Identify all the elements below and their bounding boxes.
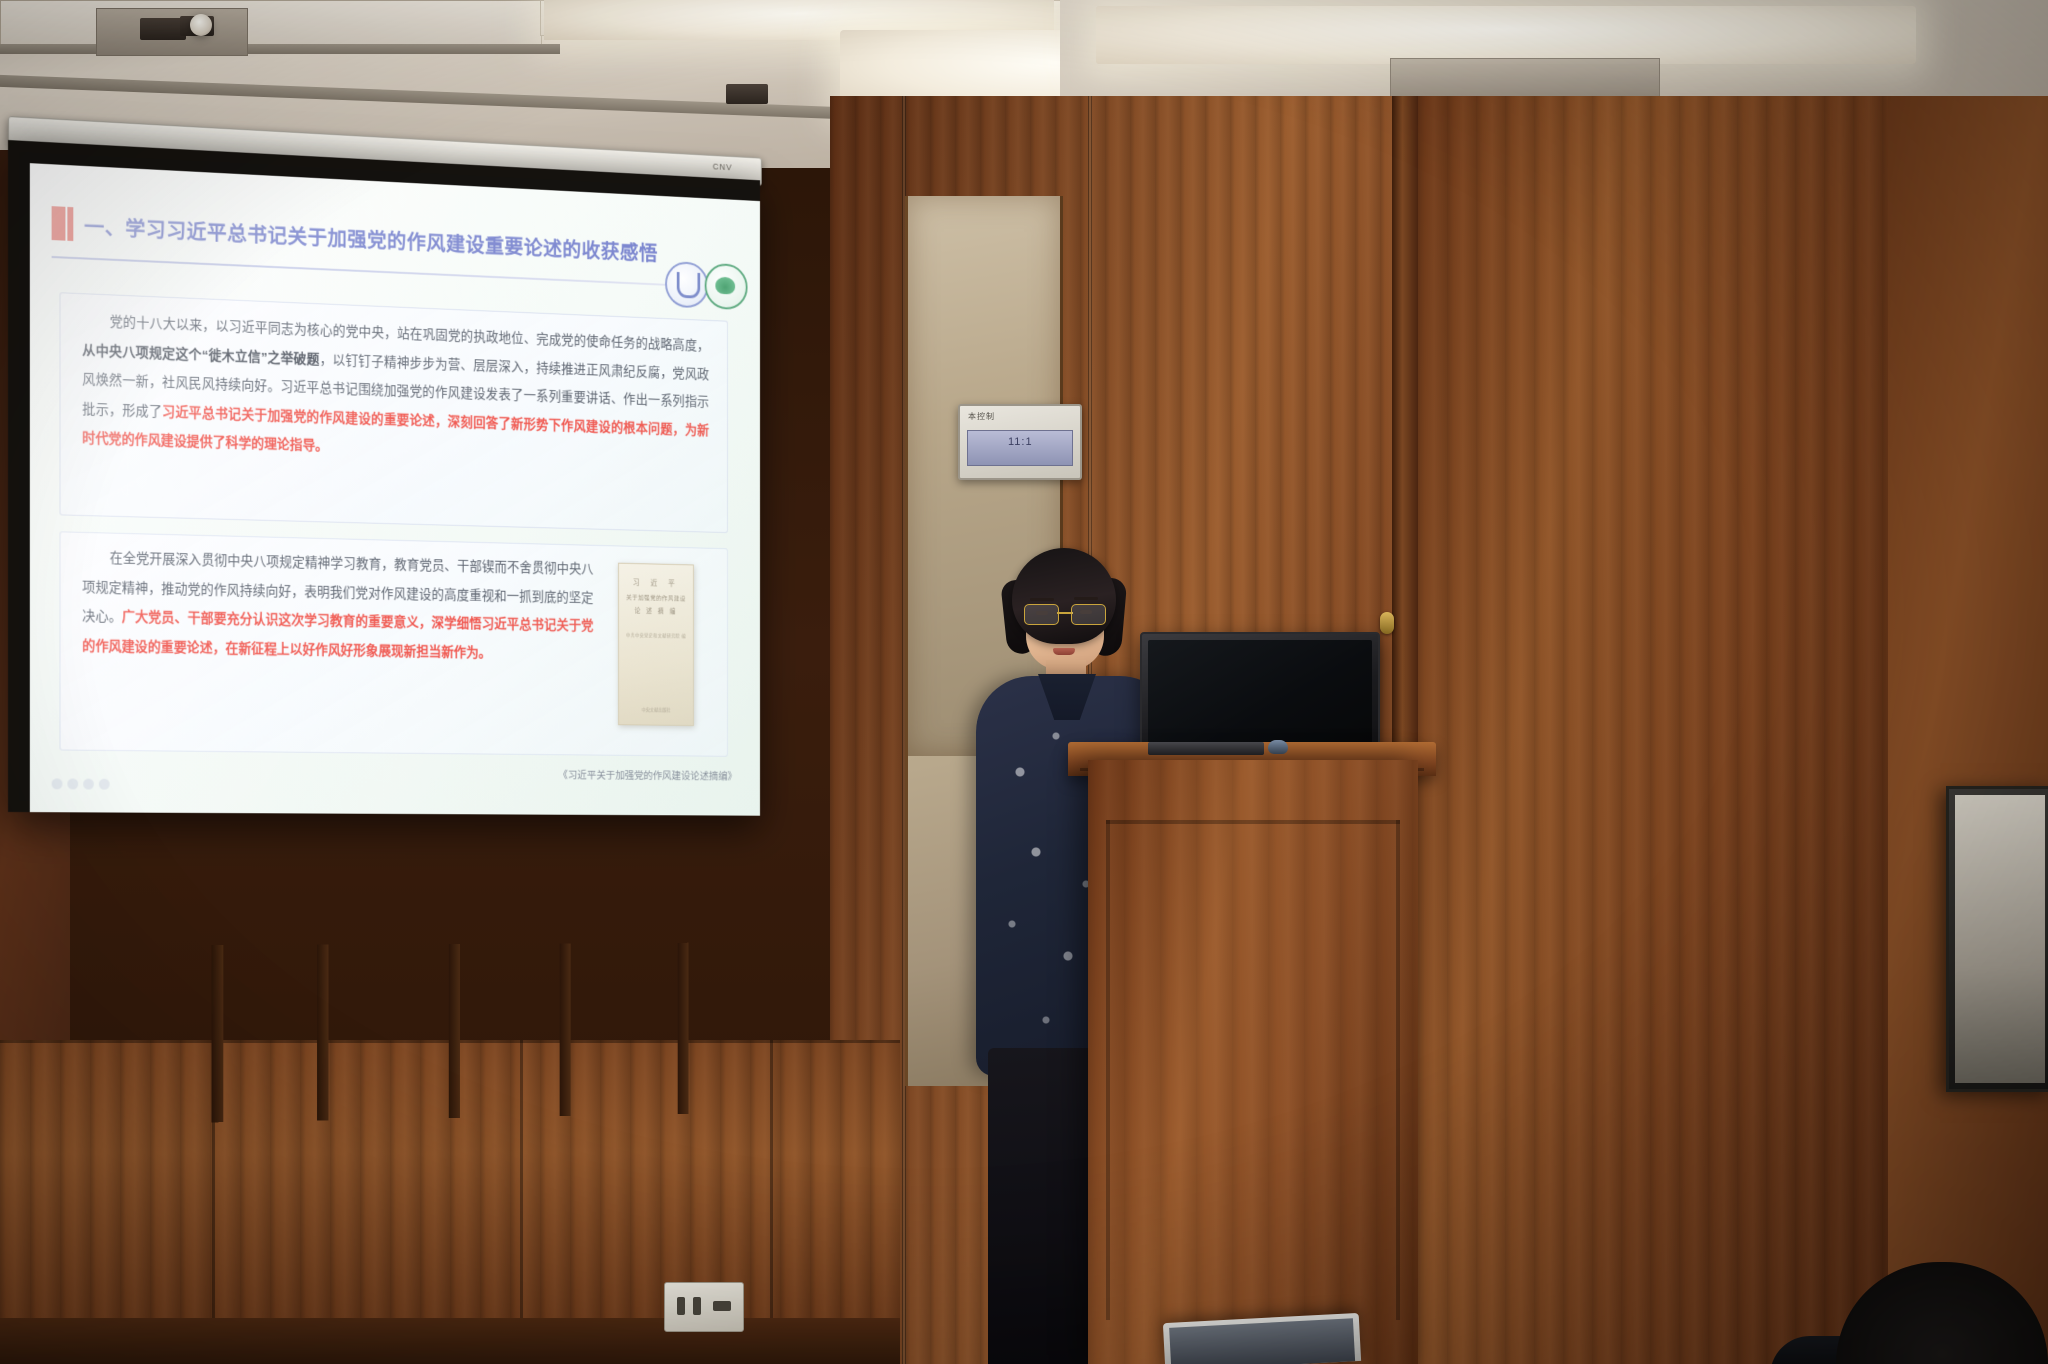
lens [1024,604,1059,625]
book-publisher-line: 中央文献出版社 [619,707,693,714]
screen-brand-label: CNV [713,162,733,173]
lectern-panel-line [1396,820,1400,1320]
monitor-screen [1148,640,1372,748]
wall-control-label: 本控制 [968,411,995,422]
wood-door[interactable] [1418,96,1888,1364]
conference-room-scene: 本控制 11:1 CNV 一、学习习近平总书记关于加强党的作风建设重要论述的收获… [0,0,2048,1364]
lectern-panel-line [1106,820,1400,824]
screen-border: 一、学习习近平总书记关于加强党的作风建设重要论述的收获感悟 党的十八大以来，以习… [8,140,760,816]
door-handle[interactable] [1380,612,1394,634]
slide-paragraph-1: 党的十八大以来，以习近平同志为核心的党中央，站在巩固党的执政地位、完成党的使命任… [82,306,709,472]
slide-title: 一、学习习近平总书记关于加强党的作风建设重要论述的收获感悟 [84,210,658,267]
screen-leg [678,943,689,1114]
slide-citation: 《习近平关于加强党的作风建设论述摘编》 [558,767,736,783]
screen-stand [26,942,767,974]
hair [1012,548,1116,644]
framed-picture [1946,786,2048,1092]
slide-title-row: 一、学习习近平总书记关于加强党的作风建设重要论述的收获感悟 [52,206,658,268]
book-title-line1: 习 近 平 [619,577,693,589]
wooden-lectern [1088,760,1418,1364]
mouth [1053,648,1075,655]
slide-paragraph-block-1: 党的十八大以来，以习近平同志为核心的党中央，站在巩固党的执政地位、完成党的使命任… [60,292,728,533]
lectern-panel-line [1106,820,1110,1320]
ceiling-downlight-slot [726,84,768,104]
footer-dot-icon [52,778,63,789]
footer-dot-icon [99,779,110,790]
university-emblem-icon [665,261,708,309]
eyebrow [1074,597,1098,600]
outlet-slot [677,1297,685,1315]
eyebrow [1030,598,1054,601]
ceiling-panel [0,0,542,46]
institute-emblem-icon [705,263,748,310]
laptop-screen [1169,1318,1355,1364]
slide-footer-marks [52,778,110,789]
ceiling-light [1096,6,1916,64]
keyboard[interactable] [1148,742,1264,755]
screen-leg [560,943,571,1116]
panel-divider [520,1040,523,1364]
panel-divider [770,1040,773,1364]
audience-laptop[interactable] [1163,1313,1361,1364]
slide-paragraph-2: 在全党开展深入贯彻中央八项规定精神学习教育，教育党员、干部锲而不舍贯彻中央八项规… [82,543,593,669]
book-editor-line: 中共中央党史和文献研究院 编 [619,632,693,639]
book-title-line3: 论 述 摘 编 [619,606,693,616]
title-accent-bar-icon [52,206,74,241]
outlet-slot [713,1301,731,1311]
projection-screen-assembly: CNV 一、学习习近平总书记关于加强党的作风建设重要论述的收获感悟 党的十八大以… [8,140,760,823]
screen-leg [212,945,224,1122]
screen-leg [317,944,328,1120]
footer-dot-icon [83,779,94,790]
skirting-board [0,1318,900,1364]
book-cover-image: 习 近 平 关于加强党的作风建设 论 述 摘 编 中共中央党史和文献研究院 编 … [618,563,694,726]
presentation-slide: 一、学习习近平总书记关于加强党的作风建设重要论述的收获感悟 党的十八大以来，以习… [30,163,760,816]
ceiling-beam [0,44,560,54]
wall-control-panel[interactable]: 本控制 11:1 [958,404,1082,480]
far-wall [1888,96,2048,1364]
lens [1071,604,1106,625]
picture-surface [1955,795,2045,1083]
eyeglasses-icon [1024,604,1106,623]
outlet-slot [693,1297,701,1315]
wall-control-value: 11:1 [1008,436,1033,448]
ceiling-vent [1390,58,1660,100]
ceiling-spotlight [190,14,212,36]
power-outlet[interactable] [664,1282,744,1332]
book-title-line2: 关于加强党的作风建设 [619,592,693,602]
screen-leg [449,944,460,1118]
mouse[interactable] [1268,740,1288,754]
footer-dot-icon [67,778,78,789]
